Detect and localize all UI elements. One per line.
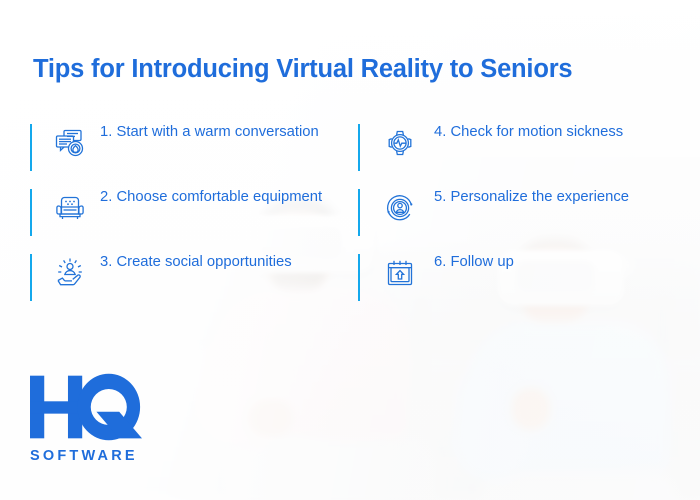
person-circle-icon [378,186,422,230]
tip-number: 3. [100,254,112,270]
accent-bar [358,189,360,236]
tip-number: 6. [434,254,446,270]
tip-number: 4. [434,124,446,140]
tip-text: Personalize the experience [450,189,629,205]
logo[interactable]: SOFTWARE [30,372,142,464]
tip-number: 2. [100,189,112,205]
tip-item-3[interactable]: 3. Create social opportunities [30,251,340,316]
infographic-canvas: Tips for Introducing Virtual Reality to … [0,0,700,500]
tip-number: 1. [100,124,112,140]
accent-bar [358,254,360,301]
tip-label: 5. Personalize the experience [434,186,629,207]
tip-text: Follow up [450,254,513,270]
tip-item-4[interactable]: 4. Check for motion sickness [358,121,668,186]
tips-column-left: 1. Start with a warm conversation [30,121,340,316]
accent-bar [30,254,32,301]
logo-wordmark: SOFTWARE [30,448,142,464]
tip-label: 4. Check for motion sickness [434,121,623,142]
tips-column-right: 4. Check for motion sickness [358,121,668,316]
accent-bar [30,189,32,236]
tip-label: 6. Follow up [434,251,514,272]
tip-item-5[interactable]: 5. Personalize the experience [358,186,668,251]
hq-logo-icon [30,372,142,442]
tip-number: 5. [434,189,446,205]
accent-bar [358,124,360,171]
calendar-arrow-up-icon [378,251,422,295]
page-title: Tips for Introducing Virtual Reality to … [33,55,572,84]
tip-item-6[interactable]: 6. Follow up [358,251,668,316]
tip-item-1[interactable]: 1. Start with a warm conversation [30,121,340,186]
hand-holding-person-icon [48,251,92,295]
accent-bar [30,124,32,171]
tip-label: 2. Choose comfortable equipment [100,186,322,207]
tip-text: Create social opportunities [116,254,291,270]
tip-text: Check for motion sickness [450,124,623,140]
tip-label: 3. Create social opportunities [100,251,292,272]
tip-text: Choose comfortable equipment [116,189,322,205]
tip-label: 1. Start with a warm conversation [100,121,319,142]
chat-bubbles-heart-icon [48,121,92,165]
infographic-content: Tips for Introducing Virtual Reality to … [0,0,700,500]
tip-text: Start with a warm conversation [116,124,318,140]
tip-item-2[interactable]: 2. Choose comfortable equipment [30,186,340,251]
watch-pulse-icon [378,121,422,165]
armchair-icon [48,186,92,230]
